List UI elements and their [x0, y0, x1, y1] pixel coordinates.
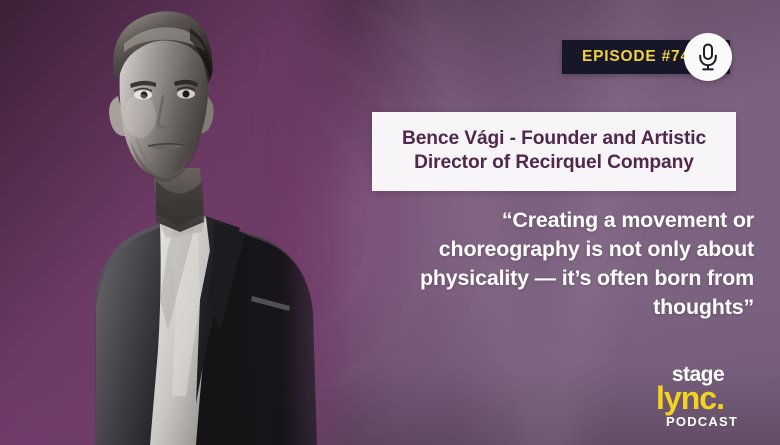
- episode-title: Bence Vági - Founder and Artistic Direct…: [386, 127, 722, 175]
- logo-word-lync: lync.: [656, 380, 724, 416]
- episode-quote: “Creating a movement or choreography is …: [370, 206, 754, 322]
- logo-word-podcast: PODCAST: [666, 414, 738, 429]
- podcast-episode-graphic: EPISODE #74 Bence Vági - Founder and Art…: [0, 0, 780, 445]
- episode-badge-label: EPISODE #74: [582, 48, 690, 66]
- microphone-icon: [684, 33, 732, 81]
- stagelync-podcast-logo: stage lync. PODCAST: [628, 357, 754, 431]
- guest-portrait: [0, 0, 352, 445]
- episode-title-card: Bence Vági - Founder and Artistic Direct…: [372, 112, 736, 191]
- episode-badge-row: EPISODE #74: [562, 33, 730, 81]
